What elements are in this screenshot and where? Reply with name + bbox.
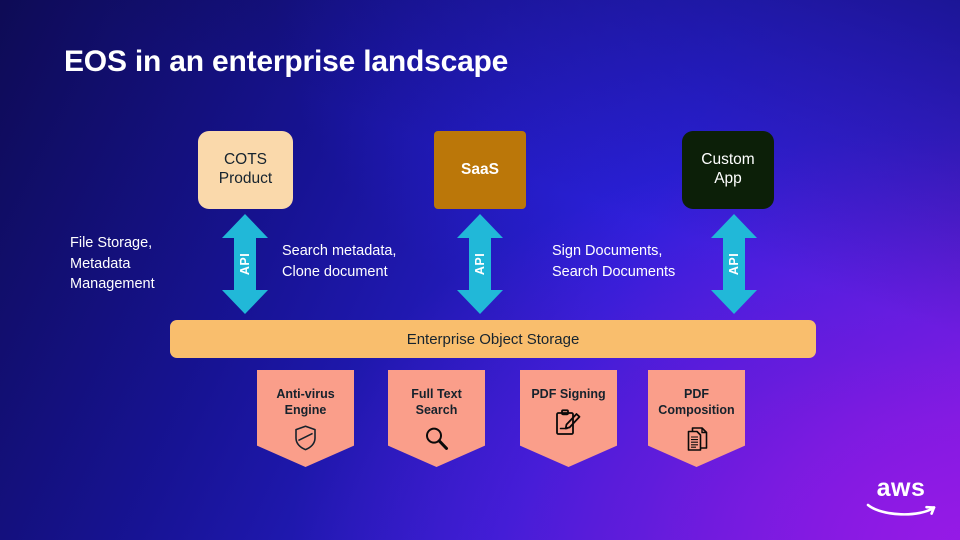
magnifier-icon	[424, 425, 449, 451]
documents-copy-icon	[683, 425, 710, 451]
page-title: EOS in an enterprise landscape	[64, 45, 508, 79]
system-box-saas[interactable]: SaaS	[434, 131, 526, 209]
system-box-saas-label: SaaS	[461, 161, 499, 180]
service-pdf-signing[interactable]: PDF Signing	[520, 370, 617, 467]
clipboard-pencil-icon	[555, 409, 582, 435]
service-pdf-composition-label: PDF Composition	[658, 386, 734, 418]
aws-logo: aws	[864, 474, 938, 518]
platform-bar-label: Enterprise Object Storage	[407, 331, 580, 348]
service-full-text-search-label: Full Text Search	[411, 386, 461, 418]
system-box-cots[interactable]: COTS Product	[198, 131, 293, 209]
caption-file-storage: File Storage, Metadata Management	[70, 233, 230, 295]
caption-sign-documents: Sign Documents, Search Documents	[552, 241, 752, 282]
shield-icon	[294, 425, 317, 451]
service-pdf-signing-label: PDF Signing	[531, 386, 605, 402]
service-pdf-composition[interactable]: PDF Composition	[648, 370, 745, 467]
system-box-custom-app-label: Custom App	[701, 151, 754, 189]
caption-search-metadata: Search metadata, Clone document	[282, 241, 472, 282]
slide-canvas: EOS in an enterprise landscape COTS Prod…	[0, 0, 960, 540]
platform-bar-enterprise-object-storage[interactable]: Enterprise Object Storage	[170, 320, 816, 358]
service-full-text-search[interactable]: Full Text Search	[388, 370, 485, 467]
system-box-cots-label: COTS Product	[219, 151, 272, 189]
system-box-custom-app[interactable]: Custom App	[682, 131, 774, 209]
service-anti-virus-engine[interactable]: Anti-virus Engine	[257, 370, 354, 467]
svg-text:aws: aws	[877, 474, 926, 502]
service-anti-virus-engine-label: Anti-virus Engine	[276, 386, 334, 418]
